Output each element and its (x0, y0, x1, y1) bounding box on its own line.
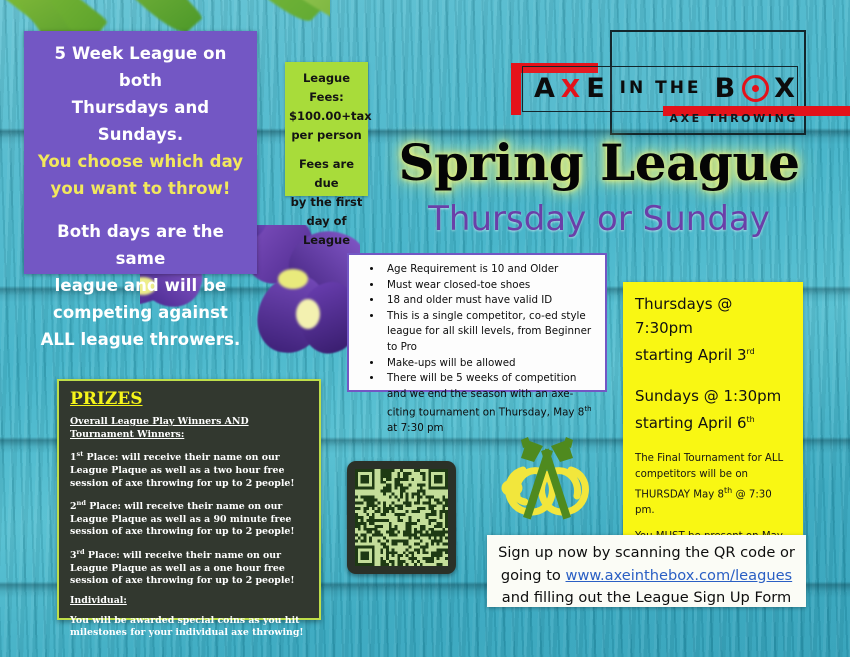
overview-line-6: league and will be (32, 272, 249, 299)
signup-line-2-prefix: going to (501, 567, 566, 584)
qr-code-canvas[interactable] (355, 469, 448, 566)
poster-canvas: 5 Week League on both Thursdays and Sund… (0, 0, 850, 657)
page-subtitle: Thursday or Sunday (393, 198, 805, 240)
league-overview-box: 5 Week League on both Thursdays and Sund… (24, 31, 257, 274)
logo-letter-x: X (774, 75, 797, 102)
overview-line-7: competing against (32, 299, 249, 326)
bullseye-target-icon (742, 75, 769, 102)
league-fees-box: League Fees: $100.00+tax per person Fees… (285, 62, 368, 196)
iris-center (296, 299, 320, 329)
prizes-subheading: Overall League Play Winners AND Tourname… (70, 416, 309, 441)
fees-line-1: League Fees: (289, 69, 364, 107)
final-tournament-line-2: competitors will be on (635, 467, 793, 483)
schedule-box: Thursdays @ 7:30pm starting April 3rd Su… (623, 282, 803, 535)
prizes-individual-text: You will be awarded special coins as you… (70, 615, 309, 640)
final-tournament-line-1: The Final Tournament for ALL (635, 451, 793, 467)
final-tournament-line-3: THURSDAY May 8th @ 7:30 pm. (635, 483, 793, 519)
overview-line-1: 5 Week League on both (32, 40, 249, 94)
thursday-start-date: starting April 3rd (635, 340, 793, 367)
list-item: Make-ups will be allowed (383, 356, 597, 372)
signup-line-3: and filling out the League Sign Up Form (497, 587, 796, 610)
overview-line-8: ALL league throwers. (32, 326, 249, 353)
fees-line-4: Fees are due (289, 155, 364, 193)
logo-wordmark: A X E IN THE B X (534, 70, 800, 106)
list-item: Must wear closed-toe shoes (383, 278, 597, 294)
iris-petal (254, 272, 328, 356)
logo-in-the: IN THE (620, 80, 702, 97)
sunday-start-date: starting April 6th (635, 408, 793, 435)
rules-list: Age Requirement is 10 and Older Must wea… (353, 262, 597, 437)
logo-letter-e: E (586, 75, 606, 102)
crossed-axes-emblem (487, 418, 607, 540)
logo-letter-a: A (534, 75, 557, 102)
ribbon-swirl-icon (505, 470, 585, 512)
signup-instructions-box: Sign up now by scanning the QR code or g… (487, 535, 806, 607)
overview-line-2: Thursdays and Sundays. (32, 94, 249, 148)
sunday-time: Sundays @ 1:30pm (635, 384, 793, 408)
overview-line-4: you want to throw! (32, 175, 249, 202)
league-signup-link[interactable]: www.axeinthebox.com/leagues (566, 567, 793, 584)
logo-letter-b: B (715, 75, 738, 102)
list-item: This is a single competitor, co-ed style… (383, 309, 597, 356)
overview-line-5: Both days are the same (32, 218, 249, 272)
signup-line-1: Sign up now by scanning the QR code or (497, 542, 796, 565)
qr-code[interactable] (347, 461, 456, 574)
iris-center (278, 269, 308, 289)
overview-line-3: You choose which day (32, 148, 249, 175)
fees-line-6: day of League (289, 212, 364, 250)
prizes-title: PRIZES (70, 389, 143, 409)
thursday-time: Thursdays @ 7:30pm (635, 292, 793, 340)
fees-line-5: by the first (289, 193, 364, 212)
spacer (32, 202, 249, 218)
list-item: 18 and older must have valid ID (383, 293, 597, 309)
spacer (289, 145, 364, 155)
spacer (635, 519, 793, 529)
qr-code-image[interactable] (355, 469, 448, 566)
prize-second-place: 2nd Place: will receive their name on ou… (70, 497, 309, 539)
page-title: Spring League (393, 134, 805, 192)
fees-line-3: per person (289, 126, 364, 145)
axe-in-the-box-logo: A X E IN THE B X AXE THROWING (506, 30, 806, 135)
prize-first-place: 1st Place: will receive their name on ou… (70, 448, 309, 490)
crossed-axes-x-icon: X (561, 74, 582, 103)
fees-line-2: $100.00+tax (289, 107, 364, 126)
signup-line-2: going to www.axeinthebox.com/leagues (497, 565, 796, 588)
leaf-blade-icon (146, 0, 324, 33)
league-rules-box: Age Requirement is 10 and Older Must wea… (347, 253, 607, 392)
spacer (635, 367, 793, 384)
list-item: Age Requirement is 10 and Older (383, 262, 597, 278)
crossed-axes-icon (487, 418, 607, 540)
prizes-box: PRIZES Overall League Play Winners AND T… (57, 379, 321, 620)
prize-third-place: 3rd Place: will receive their name on ou… (70, 546, 309, 588)
spacer (635, 435, 793, 451)
logo-red-accent-top-vertical (511, 63, 521, 115)
logo-tagline: AXE THROWING (669, 112, 798, 125)
prizes-individual-heading: Individual: (70, 595, 309, 608)
leaf-blade-icon (212, 0, 330, 20)
